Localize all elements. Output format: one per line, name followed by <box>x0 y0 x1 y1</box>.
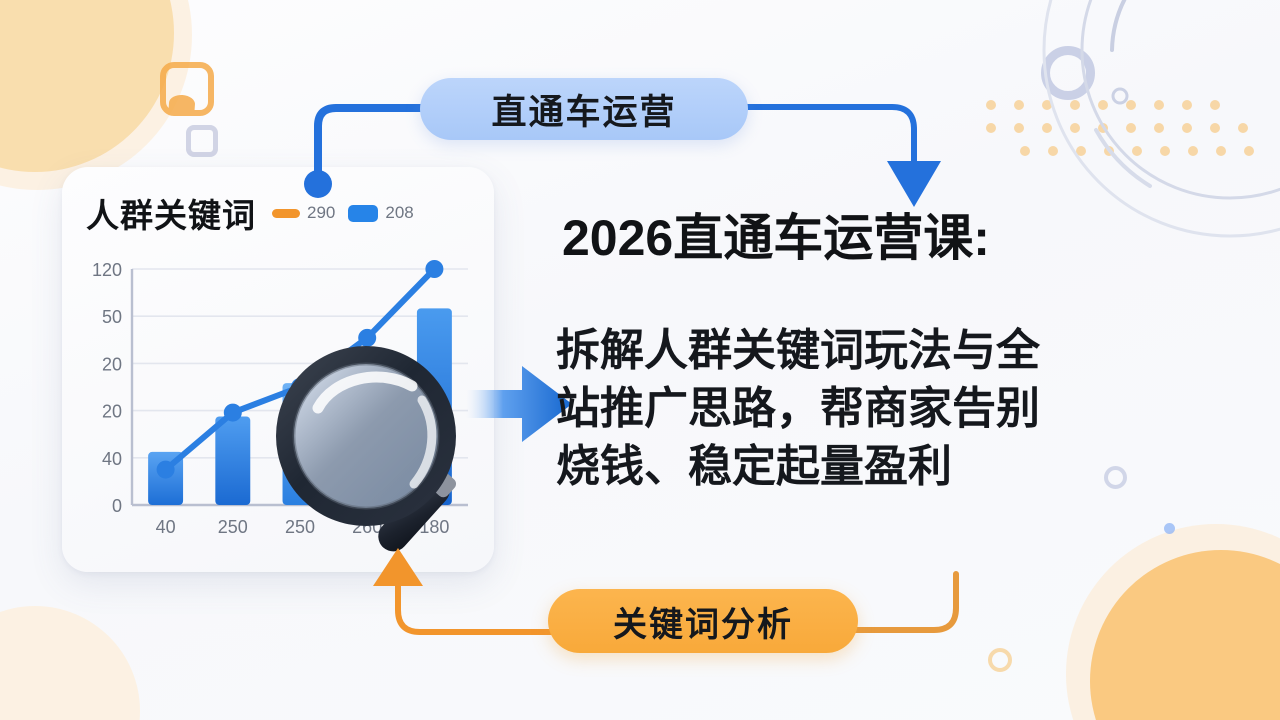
badge-zhitongche-operation[interactable]: 直通车运营 <box>420 78 748 140</box>
connector-bottom-badge-right <box>848 588 978 668</box>
subcopy-line-1: 拆解人群关键词玩法与全 <box>556 322 1236 380</box>
chart-line-marker <box>157 461 175 479</box>
legend-swatch-bar-icon <box>348 205 378 222</box>
decor-orange-ring-small-icon <box>988 648 1012 672</box>
decor-dot-grid <box>986 100 1254 169</box>
legend-swatch-line-icon <box>272 209 300 218</box>
chart-legend: 290 208 <box>272 203 414 223</box>
subcopy-line-2: 站推广思路，帮商家告别 <box>556 380 1236 438</box>
decor-gray-ring-icon <box>1041 46 1095 100</box>
legend-label-line: 290 <box>307 203 335 223</box>
decor-circle-top-left-ring <box>0 0 192 190</box>
subcopy-line-3: 烧钱、稳定起量盈利 <box>556 438 1236 496</box>
y-axis-tick: 20 <box>102 354 122 374</box>
legend-item-bar: 208 <box>348 203 413 223</box>
decor-circle-bottom-left <box>0 606 140 720</box>
decor-blue-dot-icon <box>1164 523 1175 534</box>
decor-circle-bottom-right-ring <box>1066 524 1280 720</box>
poster-canvas: 人群关键词 290 208 04020205012040250250260180 <box>0 0 1280 720</box>
legend-item-line: 290 <box>272 203 335 223</box>
arrow-down-icon <box>887 161 941 207</box>
poster-headline: 2026直通车运营课: <box>562 212 1222 265</box>
chart-line-marker <box>425 260 443 278</box>
chart-title: 人群关键词 <box>86 189 256 237</box>
connector-top-badge-to-headline <box>742 95 952 210</box>
x-axis-tick: 40 <box>156 517 176 537</box>
decor-circle-top-left <box>0 0 174 172</box>
poster-subcopy: 拆解人群关键词玩法与全 站推广思路，帮商家告别 烧钱、稳定起量盈利 <box>556 322 1236 496</box>
y-axis-tick: 50 <box>102 307 122 327</box>
chart-line-marker <box>224 404 242 422</box>
badge-keyword-analysis[interactable]: 关键词分析 <box>548 589 858 653</box>
y-axis-tick: 20 <box>102 402 122 422</box>
chart-bar <box>215 417 250 506</box>
y-axis-tick: 40 <box>102 449 122 469</box>
x-axis-tick: 250 <box>218 517 248 537</box>
magnifier-icon <box>262 338 527 583</box>
decor-gray-square-ring-icon <box>186 125 218 157</box>
decor-orange-shape-icon <box>160 62 214 116</box>
legend-label-bar: 208 <box>385 203 413 223</box>
y-axis-tick: 120 <box>92 260 122 280</box>
y-axis-tick: 0 <box>112 496 122 516</box>
decor-circle-bottom-right <box>1090 550 1280 720</box>
chart-card-header: 人群关键词 290 208 <box>86 189 476 237</box>
